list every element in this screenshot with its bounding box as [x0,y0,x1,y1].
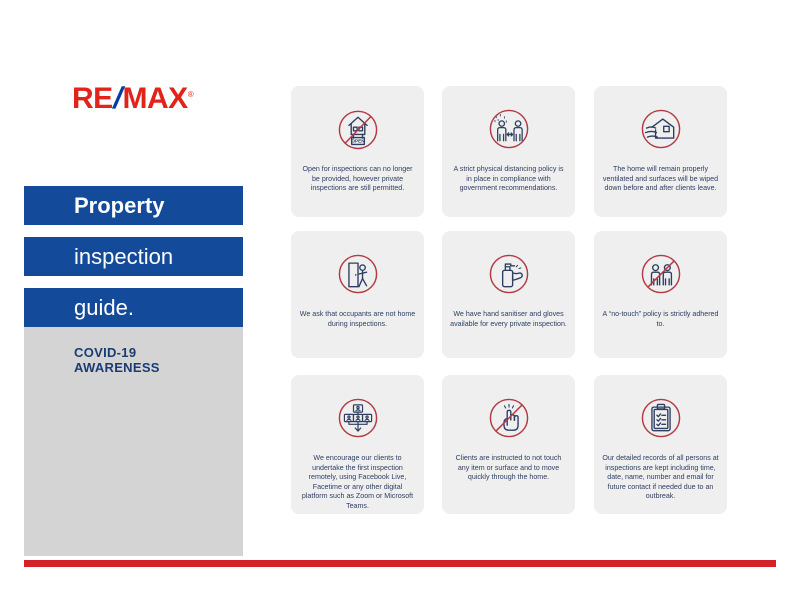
guideline-card-grid: OPEN Open for inspections can no longer … [291,86,731,529]
remax-logo: RE/MAX® [72,78,232,112]
card-physical-distancing: A strict physical distancing policy is i… [442,86,575,217]
remax-logo-text: RE/MAX® [72,78,232,116]
title-line-2: inspection [74,245,173,269]
card-occupants-away: We ask that occupants are not home durin… [291,231,424,358]
card-text: We have hand sanitiser and gloves availa… [442,310,575,341]
card-text: We ask that occupants are not home durin… [291,310,424,341]
trademark-symbol: ® [188,90,193,99]
no-contact-people-icon [632,245,690,303]
person-exiting-door-icon [329,245,387,303]
physical-distancing-icon [480,100,538,158]
card-text: We encourage our clients to undertake th… [291,454,424,524]
card-no-touch-policy: A “no-touch” policy is strictly adhered … [594,231,727,358]
title-bar-guide: guide. [24,288,243,327]
card-no-touching-surfaces: Clients are instructed to not touch any … [442,375,575,514]
card-hand-sanitiser: We have hand sanitiser and gloves availa… [442,231,575,358]
card-remote-inspection: We encourage our clients to undertake th… [291,375,424,514]
slide-canvas: RE/MAX® Property inspection guide. COVID… [0,0,800,600]
covid-awareness-line-2: AWARENESS [74,360,234,375]
card-text: A “no-touch” policy is strictly adhered … [594,310,727,341]
title-line-3: guide. [74,296,134,320]
covid-awareness-subtitle: COVID-19 AWARENESS [74,345,234,375]
title-bar-inspection: inspection [24,237,243,276]
card-ventilation: The home will remain properly ventilated… [594,86,727,217]
card-record-keeping: Our detailed records of all persons at i… [594,375,727,514]
title-line-1: Property [74,194,164,218]
house-ventilation-icon [632,100,690,158]
remax-logo-part-max: MAX [123,82,188,115]
card-text: The home will remain properly ventilated… [594,165,727,206]
title-bar-property: Property [24,186,243,225]
no-open-house-icon: OPEN [329,100,387,158]
card-open-inspections: OPEN Open for inspections can no longer … [291,86,424,217]
bottom-red-bar [24,560,776,567]
card-text: A strict physical distancing policy is i… [442,165,575,206]
card-text: Our detailed records of all persons at i… [594,454,727,514]
video-conference-icon [329,389,387,447]
hand-sanitiser-icon [480,245,538,303]
svg-text:OPEN: OPEN [351,139,365,144]
no-touch-hand-icon [480,389,538,447]
clipboard-checklist-icon [632,389,690,447]
covid-awareness-line-1: COVID-19 [74,345,234,360]
card-text: Open for inspections can no longer be pr… [291,165,424,206]
card-text: Clients are instructed to not touch any … [442,454,575,495]
remax-logo-part-re: RE [72,82,113,115]
